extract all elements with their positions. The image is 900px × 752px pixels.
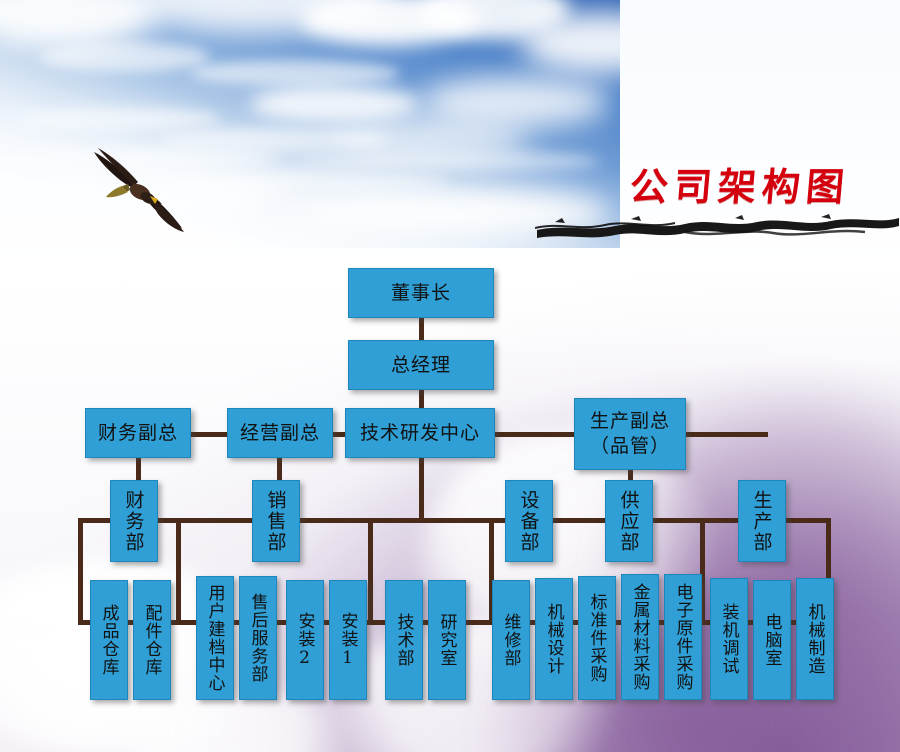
node-purchasing-metal-materials[interactable]: 金属材料采购 — [621, 574, 659, 700]
org-chart-page: 公司架构图 — [0, 0, 900, 752]
node-vp-finance[interactable]: 财务副总 — [85, 408, 191, 458]
node-mechanical-manufacturing[interactable]: 机械制造 — [796, 578, 834, 700]
node-purchasing-electronic-components[interactable]: 电子原件采购 — [664, 574, 702, 700]
node-dept-equipment[interactable]: 设备部 — [505, 480, 553, 562]
connector-vpfinance-down — [136, 455, 141, 482]
node-vp-production-line2: （品管） — [590, 434, 670, 459]
node-warehouse-finished[interactable]: 成品仓库 — [90, 580, 128, 700]
node-vp-operations[interactable]: 经营副总 — [227, 408, 333, 458]
node-mechanical-design[interactable]: 机械设计 — [535, 578, 573, 700]
node-user-archive-center[interactable]: 用户建档中心 — [196, 576, 234, 700]
org-chart-canvas: 董事长 总经理 财务副总 经营副总 技术研发中心 生产副总 （品管） 财务部 销… — [0, 0, 900, 752]
node-dept-production[interactable]: 生产部 — [738, 480, 786, 562]
node-tech-department[interactable]: 技术部 — [385, 580, 423, 700]
node-research-room[interactable]: 研究室 — [428, 580, 466, 700]
connector-chairman-gm — [419, 315, 424, 343]
node-assembly-testing[interactable]: 装机调试 — [710, 578, 748, 700]
node-warehouse-parts[interactable]: 配件仓库 — [133, 580, 171, 700]
node-computer-room[interactable]: 电脑室 — [753, 580, 791, 700]
node-chairman[interactable]: 董事长 — [348, 268, 494, 318]
node-maintenance-department[interactable]: 维修部 — [492, 580, 530, 700]
connector-dept-bus-right — [548, 518, 831, 523]
node-dept-sales[interactable]: 销售部 — [252, 480, 300, 562]
node-rnd-center[interactable]: 技术研发中心 — [345, 408, 495, 458]
node-vp-production-line1: 生产副总 — [590, 409, 670, 434]
connector-vpoperations-down — [277, 455, 282, 482]
node-dept-supply[interactable]: 供应部 — [605, 480, 653, 562]
node-general-manager[interactable]: 总经理 — [348, 340, 494, 390]
connector-rnd-down — [419, 455, 424, 520]
node-after-sales-service[interactable]: 售后服务部 — [239, 576, 277, 700]
node-vp-production[interactable]: 生产副总 （品管） — [574, 398, 686, 470]
connector-sales-drop — [176, 518, 181, 623]
node-purchasing-standard-parts[interactable]: 标准件采购 — [578, 576, 616, 700]
node-install-2[interactable]: 安装2 — [286, 580, 324, 700]
connector-bus-left-drop — [78, 518, 83, 623]
connector-rnd-drop — [368, 518, 373, 623]
node-install-1[interactable]: 安装1 — [329, 580, 367, 700]
node-dept-finance[interactable]: 财务部 — [110, 480, 158, 562]
